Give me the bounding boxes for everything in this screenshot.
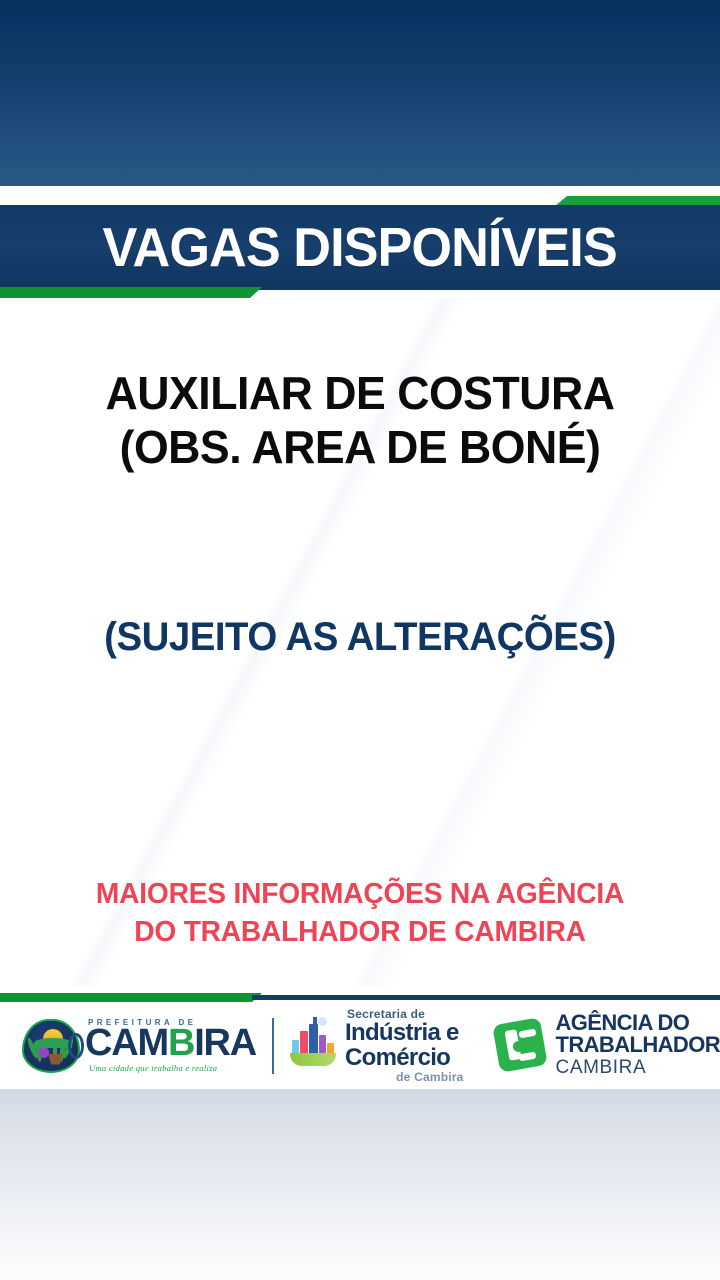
- logo-secretaria-industria-comercio: Secretaria de Indústria e Comércio de Ca…: [288, 1007, 463, 1084]
- prefeitura-name-part-b: B: [168, 1022, 194, 1064]
- accent-bar-bottom-left: [0, 287, 262, 298]
- city-buildings-icon: [288, 1020, 338, 1072]
- building: [309, 1024, 318, 1057]
- factory-stack: [313, 1017, 317, 1024]
- job-title-line-2: (OBS. AREA DE BONÉ): [11, 420, 709, 474]
- prefeitura-name-part-c: IRA: [194, 1022, 256, 1064]
- prefeitura-name: CAMBIRA: [85, 1026, 256, 1062]
- ground-base: [290, 1053, 336, 1066]
- agencia-wordmark: AGÊNCIA DO TRABALHADOR CAMBIRA: [556, 1012, 720, 1078]
- prefeitura-wordmark: PREFEITURA DE CAMBIRA Uma cidade que tra…: [85, 1018, 256, 1073]
- agencia-line-2: TRABALHADOR: [556, 1034, 720, 1056]
- puzzle-piece-icon: [494, 1017, 550, 1073]
- subject-to-change-note: (SUJEITO AS ALTERAÇÕES): [14, 614, 705, 660]
- footer-rule-navy: [252, 995, 720, 1000]
- footer-logos: PREFEITURA DE CAMBIRA Uma cidade que tra…: [0, 1002, 720, 1089]
- more-info-text: MAIORES INFORMAÇÕES NA AGÊNCIA DO TRABAL…: [11, 876, 709, 951]
- bottom-gradient-band: [0, 1089, 720, 1280]
- agencia-line-3: CAMBIRA: [556, 1057, 720, 1078]
- crest-ring: [68, 1033, 84, 1059]
- vacancy-poster: VAGAS DISPONÍVEIS AUXILIAR DE COSTURA (O…: [0, 0, 720, 1280]
- header-banner: VAGAS DISPONÍVEIS: [0, 205, 720, 290]
- factory-smoke: [318, 1017, 327, 1026]
- agencia-line-1: AGÊNCIA DO: [556, 1012, 720, 1034]
- secretaria-wordmark: Secretaria de Indústria e Comércio de Ca…: [345, 1007, 463, 1084]
- logo-prefeitura-cambira: PREFEITURA DE CAMBIRA Uma cidade que tra…: [22, 1017, 256, 1075]
- prefeitura-name-part-a: CAM: [85, 1022, 168, 1064]
- cambira-crest-icon: [22, 1017, 84, 1075]
- prefeitura-tagline: Uma cidade que trabalha e realiza: [89, 1063, 256, 1073]
- secretaria-line-2: Indústria e Comércio: [345, 1021, 463, 1071]
- footer-divider-rule: [0, 993, 720, 1002]
- secretaria-line-3: de Cambira: [345, 1070, 463, 1084]
- top-gradient-band: [0, 0, 720, 186]
- logo-divider: [272, 1018, 274, 1074]
- page-title: VAGAS DISPONÍVEIS: [103, 220, 617, 275]
- job-title-line-1: AUXILIAR DE COSTURA: [11, 366, 709, 420]
- logo-agencia-trabalhador: AGÊNCIA DO TRABALHADOR CAMBIRA: [494, 1012, 720, 1078]
- crest-pot: [48, 1054, 63, 1065]
- job-title: AUXILIAR DE COSTURA (OBS. AREA DE BONÉ): [11, 366, 709, 475]
- main-content: AUXILIAR DE COSTURA (OBS. AREA DE BONÉ) …: [0, 298, 720, 986]
- footer-rule-green: [0, 993, 262, 1002]
- more-info-line-2: DO TRABALHADOR DE CAMBIRA: [11, 914, 709, 952]
- more-info-line-1: MAIORES INFORMAÇÕES NA AGÊNCIA: [11, 876, 709, 914]
- crest-berry: [38, 1047, 49, 1058]
